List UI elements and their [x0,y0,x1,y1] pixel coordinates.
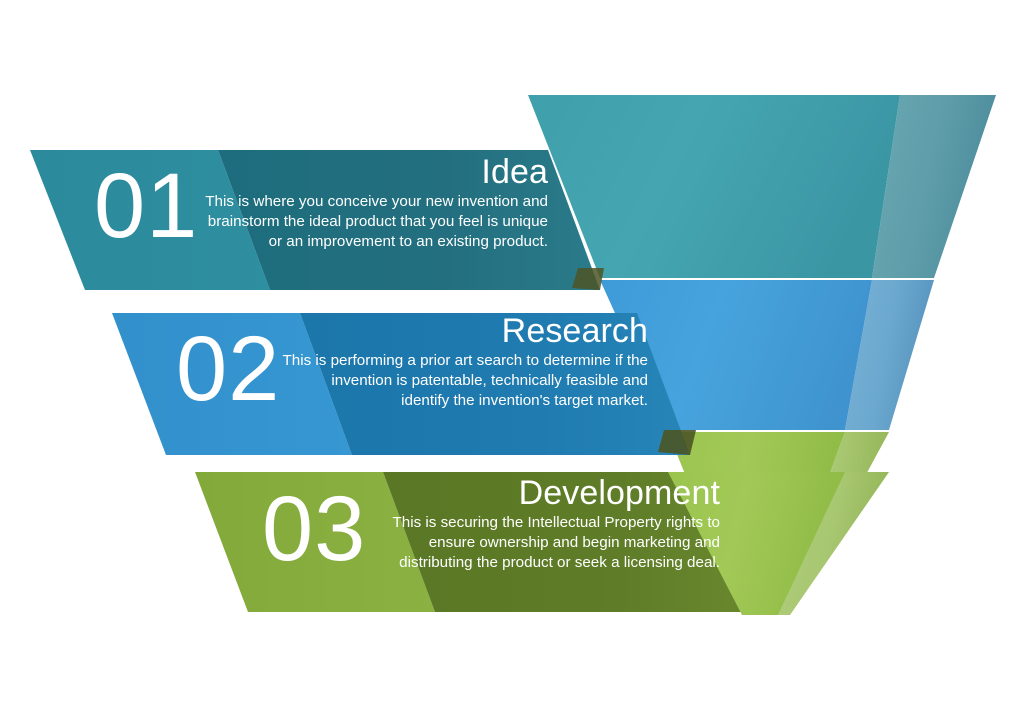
funnel-graphic [0,0,1022,706]
step-banner-1[interactable] [30,150,604,290]
step-banner-2[interactable] [112,313,696,455]
step-banner-2-dark [300,313,690,455]
funnel-infographic: 01 Idea This is where you conceive your … [0,0,1022,706]
funnel-notch-2 [658,430,696,455]
step-banner-1-dark [218,150,600,290]
